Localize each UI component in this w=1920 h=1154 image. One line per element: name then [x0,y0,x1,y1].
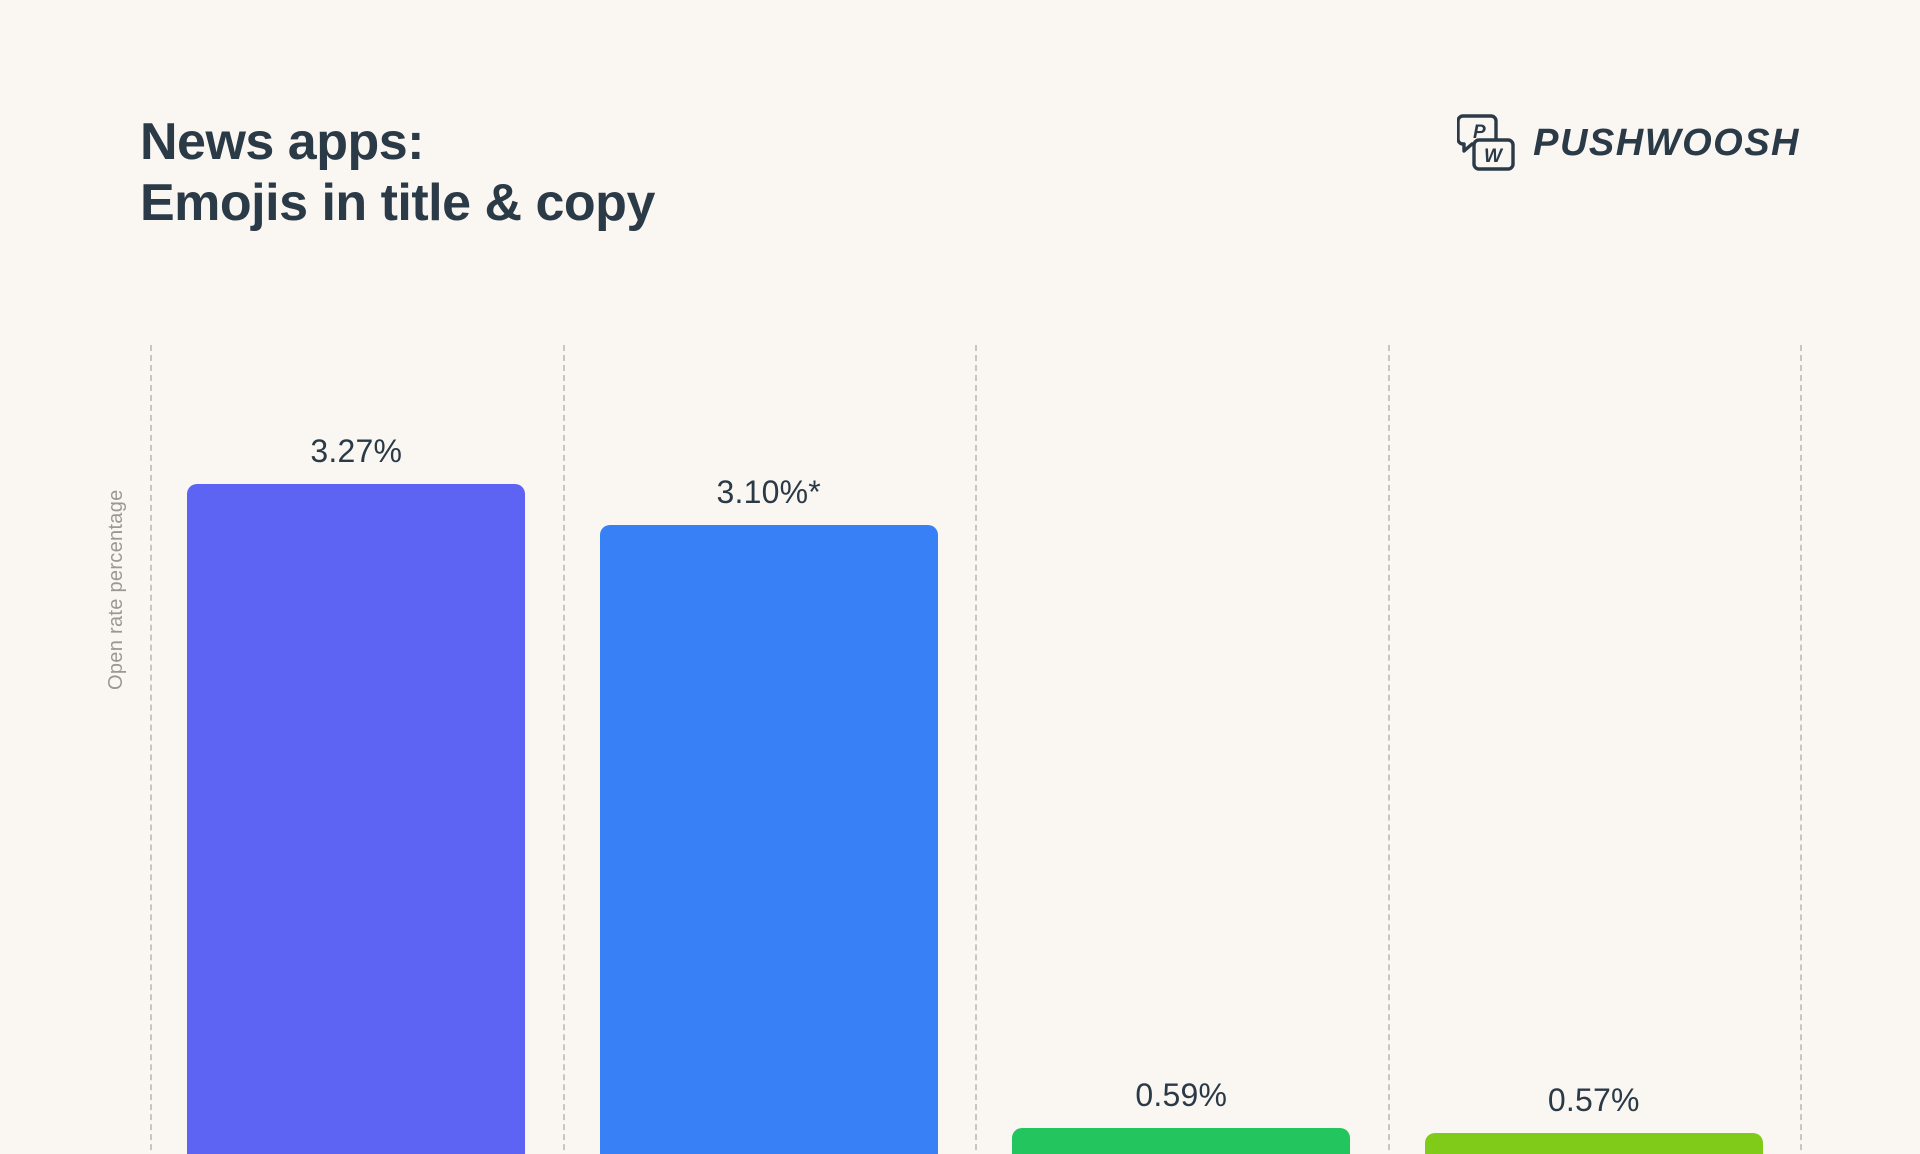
gridline [1800,345,1802,1154]
y-axis-label: Open rate percentage [105,489,128,690]
bar[interactable] [187,484,525,1154]
svg-text:W: W [1484,146,1504,167]
bar[interactable] [1012,1128,1350,1154]
bar[interactable] [1425,1133,1763,1154]
chart-column: 3.27%In title [150,345,563,1154]
pushwoosh-bubble-icon: P W [1457,112,1515,174]
page-title: News apps: Emojis in title & copy [140,112,655,235]
bar[interactable] [600,525,938,1154]
title-line-2: Emojis in title & copy [140,173,655,234]
logo-wordmark: PUSHWOOSH [1533,122,1800,165]
bar-value-label: 0.57% [1548,1082,1640,1119]
title-line-1: News apps: [140,112,655,173]
bar-value-label: 3.10%* [717,474,821,511]
bar-chart: Open rate percentage 3.27%In title3.10%*… [0,270,1920,1154]
pushwoosh-logo: P W PUSHWOOSH [1457,112,1800,174]
bar-value-label: 3.27% [310,433,402,470]
plot-area: 3.27%In title3.10%*In copy0.59%No emoji … [150,345,1800,1154]
chart-column: 3.10%*In copy [563,345,976,1154]
header: News apps: Emojis in title & copy P W PU… [0,0,1920,270]
chart-column: 0.57%No emoji in copy [1388,345,1801,1154]
chart-column: 0.59%No emoji in title [975,345,1388,1154]
bar-value-label: 0.59% [1135,1077,1227,1114]
